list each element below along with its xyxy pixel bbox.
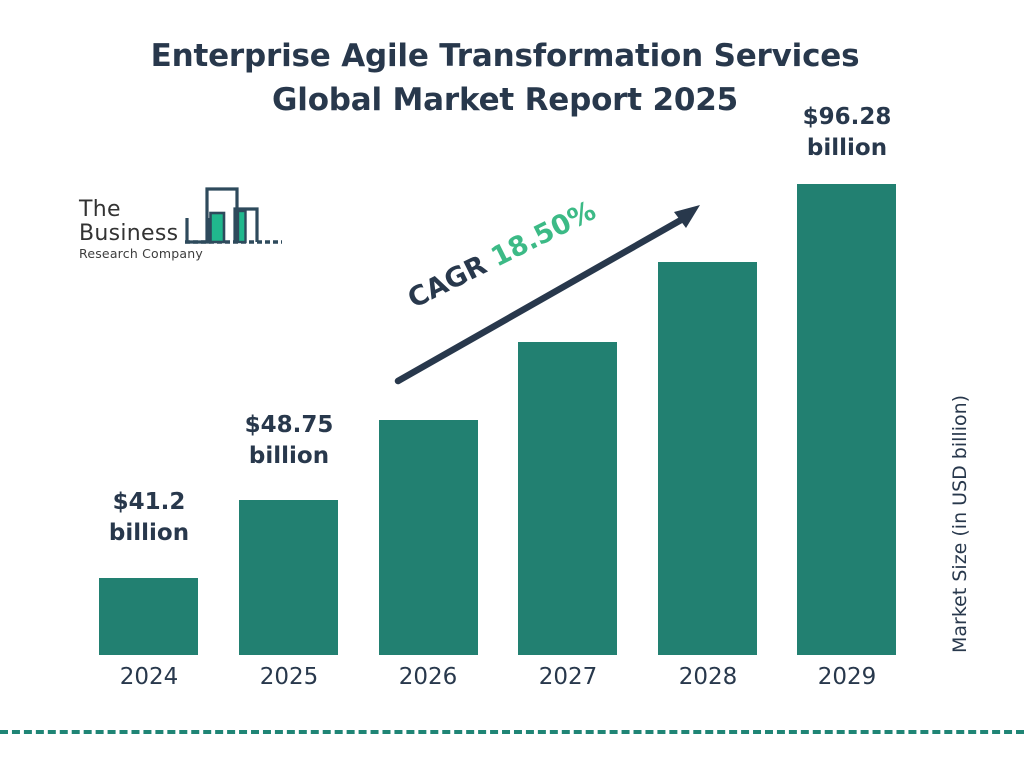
bar-2029 — [797, 184, 896, 655]
bar-2026 — [379, 420, 478, 655]
footer-divider — [0, 730, 1024, 734]
x-tick-2027: 2027 — [493, 663, 643, 691]
bar-2025 — [239, 500, 338, 655]
bar-value-2024: $41.2 billion — [74, 487, 224, 549]
x-tick-2028: 2028 — [633, 663, 783, 691]
bar-value-2029-unit: billion — [772, 133, 922, 164]
y-axis-title: Market Size (in USD billion) — [949, 395, 971, 653]
x-tick-2024: 2024 — [74, 663, 224, 691]
x-tick-2029: 2029 — [772, 663, 922, 691]
cagr-value: 18.50% — [486, 195, 600, 273]
bar-value-2025-amount: $48.75 — [245, 412, 334, 438]
bar-value-2025: $48.75 billion — [214, 410, 364, 472]
x-tick-2025: 2025 — [214, 663, 364, 691]
cagr-label: CAGR — [403, 250, 492, 315]
bar-value-2029: $96.28 billion — [772, 102, 922, 164]
x-tick-2026: 2026 — [353, 663, 503, 691]
bar-value-2024-unit: billion — [74, 518, 224, 549]
chart-page: Enterprise Agile Transformation Services… — [0, 0, 1024, 768]
bar-2027 — [518, 342, 617, 655]
cagr-annotation: CAGR 18.50% — [403, 195, 601, 314]
bar-2028 — [658, 262, 757, 655]
bar-2024 — [99, 578, 198, 655]
bar-value-2029-amount: $96.28 — [803, 104, 892, 130]
bar-value-2025-unit: billion — [214, 441, 364, 472]
bar-chart-plot-area: $41.2 billion $48.75 billion $96.28 bill… — [0, 0, 1024, 768]
bar-value-2024-amount: $41.2 — [113, 489, 186, 515]
